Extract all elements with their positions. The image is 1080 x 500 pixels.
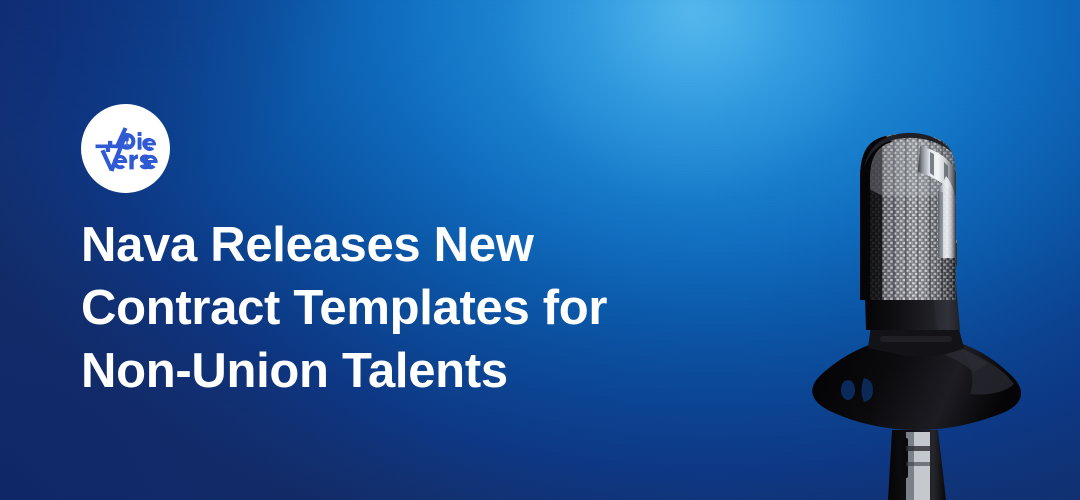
headline-line-1: Nava Releases New — [81, 214, 721, 277]
blog-banner: Nava Releases New Contract Templates for… — [0, 0, 1080, 500]
voice-verse-logo[interactable] — [81, 104, 170, 193]
headline-line-3: Non-Union Talents — [81, 340, 721, 403]
headline-line-2: Contract Templates for — [81, 277, 721, 340]
voice-verse-logo-mark — [94, 121, 158, 177]
headline: Nava Releases New Contract Templates for… — [81, 214, 721, 403]
